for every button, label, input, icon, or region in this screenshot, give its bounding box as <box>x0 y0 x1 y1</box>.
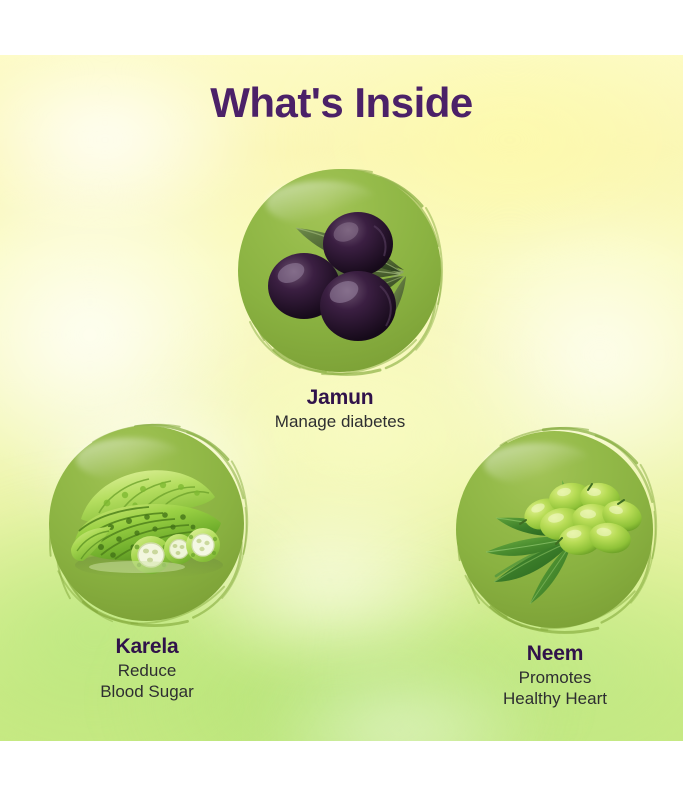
neem-fruit-leaf-icon <box>452 428 658 634</box>
ingredient-card-neem[interactable]: Neem Promotes Healthy Heart <box>440 428 670 710</box>
ingredient-card-jamun[interactable]: Jamun Manage diabetes <box>222 166 458 433</box>
ingredient-card-karela[interactable]: Karela Reduce Blood Sugar <box>33 423 261 703</box>
description-line: Blood Sugar <box>33 682 261 703</box>
whats-inside-poster: What's Inside <box>0 0 683 800</box>
ingredient-badge-karela <box>45 423 249 627</box>
description-line: Promotes <box>440 668 670 689</box>
karela-bitter-gourd-icon <box>45 423 249 627</box>
description-line: Reduce <box>33 661 261 682</box>
ingredient-description: Reduce Blood Sugar <box>33 661 261 702</box>
ingredient-name: Jamun <box>222 386 458 410</box>
page-title: What's Inside <box>0 82 683 124</box>
ingredient-badge-jamun <box>234 166 446 378</box>
description-line: Healthy Heart <box>440 689 670 710</box>
ingredient-name: Karela <box>33 635 261 659</box>
ingredient-name: Neem <box>440 642 670 666</box>
ingredient-label-karela: Karela Reduce Blood Sugar <box>33 635 261 703</box>
jamun-fruit-icon <box>234 166 446 378</box>
ingredient-description: Promotes Healthy Heart <box>440 668 670 709</box>
ingredient-badge-neem <box>452 428 658 634</box>
ingredient-label-neem: Neem Promotes Healthy Heart <box>440 642 670 710</box>
